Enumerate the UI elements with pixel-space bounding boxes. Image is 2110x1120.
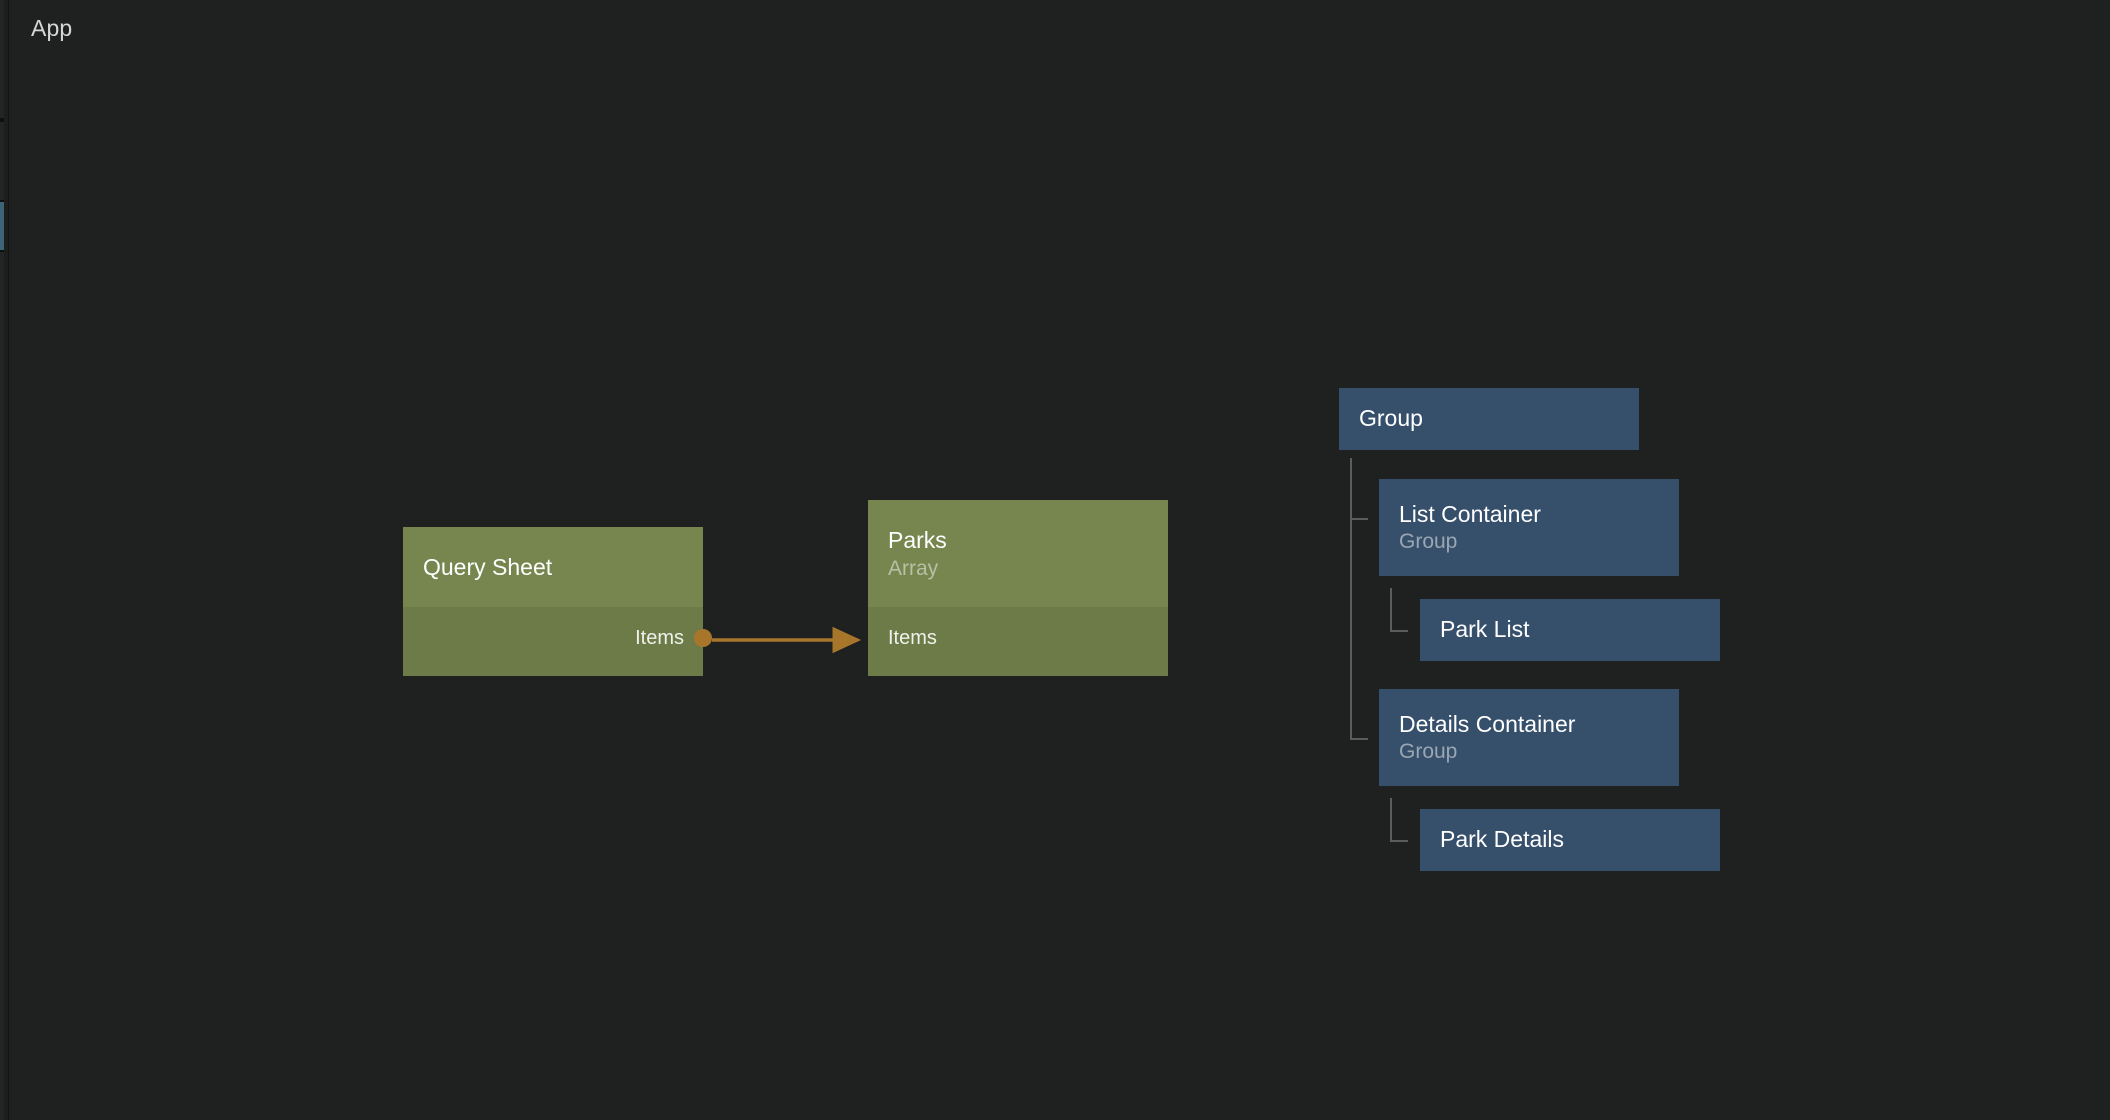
page-title: App (31, 15, 72, 42)
scrollbar-track-segment (0, 252, 4, 1120)
port-connector-dot-icon[interactable] (694, 629, 712, 647)
flow-node-query-sheet[interactable]: Query Sheet Items (403, 527, 703, 676)
graph-canvas[interactable]: Query Sheet Items Parks Array Items (0, 0, 2110, 1120)
tree-node-list-container[interactable]: List Container Group (1379, 479, 1679, 576)
scrollbar-thumb[interactable] (0, 202, 4, 250)
node-subtitle: Array (888, 556, 1148, 582)
tree-node-group[interactable]: Group (1339, 388, 1639, 450)
node-body: Items (403, 607, 703, 676)
tree-connector-details-container-park-details (1390, 798, 1420, 842)
node-header[interactable]: Parks Array (868, 500, 1168, 607)
output-port-items[interactable]: Items (403, 621, 703, 655)
node-header[interactable]: Query Sheet (403, 527, 703, 607)
flow-node-parks[interactable]: Parks Array Items (868, 500, 1168, 676)
node-title: Query Sheet (423, 554, 683, 581)
tree-node-park-list[interactable]: Park List (1420, 599, 1720, 661)
tree-connector-list-container-park-list (1390, 588, 1420, 632)
left-scrollbar-rail[interactable] (0, 0, 9, 1120)
port-label: Items (635, 627, 684, 650)
tree-node-details-container[interactable]: Details Container Group (1379, 689, 1679, 786)
scrollbar-track-segment (0, 122, 4, 200)
port-label: Items (888, 627, 937, 650)
scrollbar-track-segment (0, 0, 4, 118)
tree-node-title: List Container (1399, 501, 1679, 529)
tree-node-park-details[interactable]: Park Details (1420, 809, 1720, 871)
input-port-items[interactable]: Items (868, 621, 1168, 655)
tree-node-title: Park Details (1440, 826, 1720, 854)
tree-node-title: Group (1359, 405, 1639, 433)
node-body: Items (868, 607, 1168, 676)
tree-node-subtitle: Group (1399, 739, 1679, 764)
tree-connector-group-children (1350, 458, 1380, 740)
node-title: Parks (888, 527, 1148, 554)
tree-node-title: Details Container (1399, 711, 1679, 739)
tree-node-subtitle: Group (1399, 529, 1679, 554)
tree-node-title: Park List (1440, 616, 1720, 644)
